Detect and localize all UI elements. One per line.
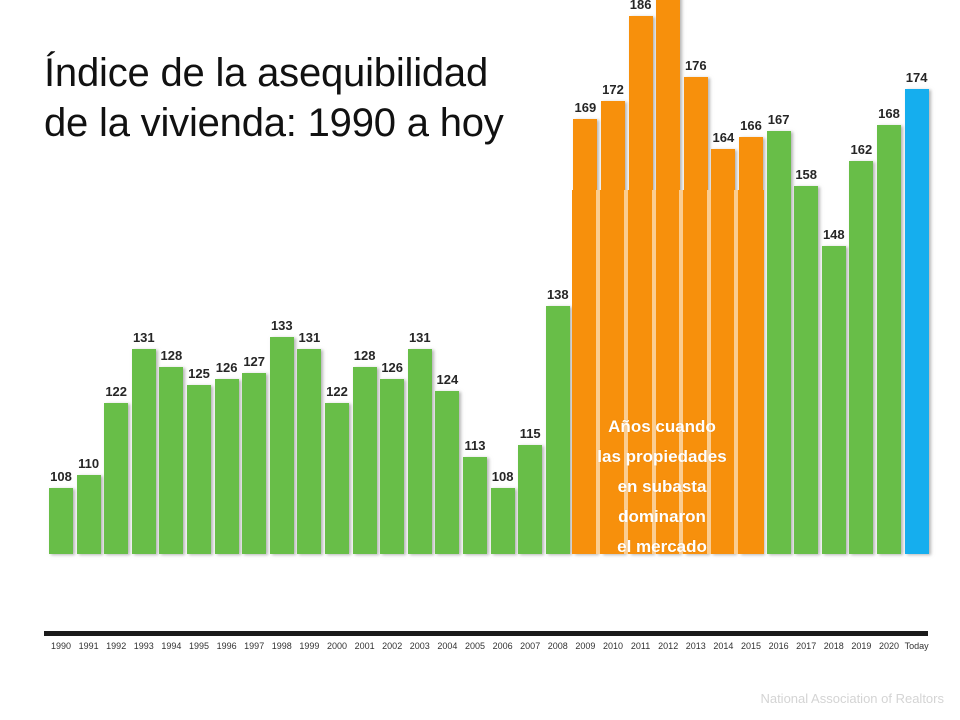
bar-group: 131: [295, 0, 323, 554]
bar-1994[interactable]: [159, 367, 183, 554]
bar-group: 174: [903, 0, 931, 554]
bar-2002[interactable]: [380, 379, 404, 554]
x-axis-line: [44, 631, 928, 636]
bar-chart-plot-area: 1081101221311281251261271331311221281261…: [0, 0, 960, 640]
bar-1991[interactable]: [77, 475, 101, 554]
bar-2006[interactable]: [491, 488, 515, 554]
bar-group: 124: [433, 0, 461, 554]
bar-2019[interactable]: [849, 161, 873, 554]
bar-group: 131: [130, 0, 158, 554]
bar-2016[interactable]: [767, 131, 791, 554]
bar-1993[interactable]: [132, 349, 156, 554]
slide-canvas: Índice de la asequibilidad de la viviend…: [0, 0, 960, 720]
bar-group: 162: [847, 0, 875, 554]
bar-group: 126: [213, 0, 241, 554]
bar-group: 110: [75, 0, 103, 554]
bar-1999[interactable]: [297, 349, 321, 554]
bar-2000[interactable]: [325, 403, 349, 554]
bar-group: 167: [765, 0, 793, 554]
bar-2018[interactable]: [822, 246, 846, 554]
bar-group: 131: [406, 0, 434, 554]
x-tick-today: Today: [897, 641, 937, 651]
source-credit: National Association of Realtors: [760, 691, 944, 706]
bar-group: 126: [378, 0, 406, 554]
bar-2020[interactable]: [877, 125, 901, 554]
bar-1990[interactable]: [49, 488, 73, 554]
bar-value-label-today: 174: [897, 70, 937, 85]
bar-2001[interactable]: [353, 367, 377, 554]
bar-group: 115: [516, 0, 544, 554]
bar-group: 108: [489, 0, 517, 554]
bar-group: 122: [102, 0, 130, 554]
bar-group: 122: [323, 0, 351, 554]
bar-2004[interactable]: [435, 391, 459, 554]
bar-1992[interactable]: [104, 403, 128, 554]
bar-group: 133: [268, 0, 296, 554]
bar-group: 148: [820, 0, 848, 554]
bar-1995[interactable]: [187, 385, 211, 554]
bar-1998[interactable]: [270, 337, 294, 554]
bar-2007[interactable]: [518, 445, 542, 554]
bar-1997[interactable]: [242, 373, 266, 554]
callout-annotation-text: Años cuando las propiedades en subasta d…: [560, 412, 764, 562]
bar-1996[interactable]: [215, 379, 239, 554]
bar-today[interactable]: [905, 89, 929, 554]
bar-group: 128: [351, 0, 379, 554]
bar-group: 128: [157, 0, 185, 554]
bar-group: 158: [792, 0, 820, 554]
bar-group: 127: [240, 0, 268, 554]
bar-group: 125: [185, 0, 213, 554]
